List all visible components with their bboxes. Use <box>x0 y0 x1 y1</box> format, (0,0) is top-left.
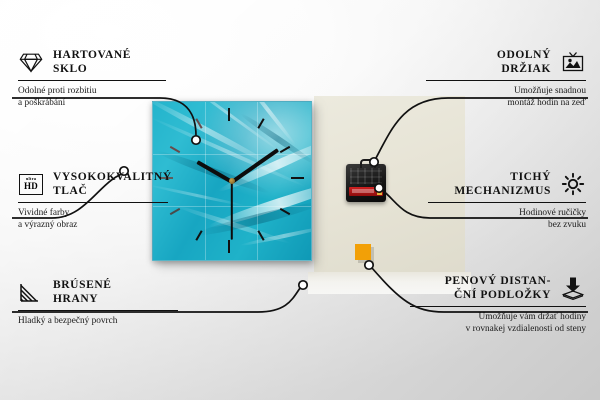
feature-high-quality-print: ultra HD VYSOKOKVALITNÝ TLAČ Vividné far… <box>18 170 168 231</box>
feature-rule <box>410 306 586 307</box>
feature-brushed-edges: BRÚSENÉ HRANY Hladký a bezpečný povrch <box>18 278 178 327</box>
product-photo <box>133 96 465 294</box>
brushed-edges-icon <box>18 280 44 304</box>
foam-spacer-pad <box>355 244 371 260</box>
wall-clock <box>152 101 312 261</box>
feature-desc-line2: montáž hodin na zeď <box>426 97 586 109</box>
feature-desc-line2: v rovnakej vzdialenosti od steny <box>410 323 586 335</box>
feature-desc-line2: a výrazný obraz <box>18 219 168 231</box>
feature-tempered-glass: HARTOVANÉ SKLO Odolné proti rozbitiu a p… <box>18 48 166 109</box>
feature-title-line2: TLAČ <box>53 184 172 198</box>
feature-rule <box>18 310 178 311</box>
ultra-hd-bottom-text: HD <box>24 182 38 191</box>
feature-desc-line1: Odolné proti rozbitiu <box>18 85 166 97</box>
picture-hanger-icon <box>560 50 586 74</box>
feature-silent-mechanism: TICHÝ MECHANIZMUS Hodinové ručičky bez z… <box>428 170 586 231</box>
feature-desc-line1: Umožňuje snadnou <box>426 85 586 97</box>
feature-durable-hanger: ODOLNÝ DRŽIAK Umožňuje snadnou montáž ho… <box>426 48 586 109</box>
feature-desc-line2: a poškrábání <box>18 97 166 109</box>
feature-title-line2: ČNÍ PODLOŽKY <box>445 288 551 302</box>
feature-title-line2: MECHANIZMUS <box>454 184 551 198</box>
feature-desc-line1: Umožňuje vám držať hodiny <box>410 311 586 323</box>
ultra-hd-icon: ultra HD <box>18 172 44 196</box>
mechanism-housing <box>350 168 382 184</box>
clock-center-cap <box>229 178 235 184</box>
feature-rule <box>18 202 168 203</box>
feature-desc-line1: Hladký a bezpečný povrch <box>18 315 178 327</box>
feature-title-line1: BRÚSENÉ <box>53 278 112 292</box>
feature-title-line1: TICHÝ <box>454 170 551 184</box>
battery <box>349 187 383 196</box>
feature-desc-line2: bez zvuku <box>428 219 586 231</box>
feature-desc-line1: Vividné farby <box>18 207 168 219</box>
feature-foam-spacers: PENOVÝ DISTAN- ČNÍ PODLOŽKY Umožňuje vám… <box>410 274 586 335</box>
diamond-icon <box>18 50 44 74</box>
feature-desc-line1: Hodinové ručičky <box>428 207 586 219</box>
mechanism-hook <box>360 159 376 168</box>
clock-mechanism <box>346 164 386 202</box>
feature-title-line1: VYSOKOKVALITNÝ <box>53 170 172 184</box>
feature-title-line1: PENOVÝ DISTAN- <box>445 274 551 288</box>
gear-icon <box>560 172 586 196</box>
feature-rule <box>18 80 166 81</box>
second-hand <box>231 181 233 239</box>
infographic-canvas: HARTOVANÉ SKLO Odolné proti rozbitiu a p… <box>0 0 600 400</box>
feature-rule <box>428 202 586 203</box>
feature-title-line1: ODOLNÝ <box>497 48 551 62</box>
feature-rule <box>426 80 586 81</box>
feature-title-line1: HARTOVANÉ <box>53 48 131 62</box>
feature-title-line2: HRANY <box>53 292 112 306</box>
feature-title-line2: SKLO <box>53 62 131 76</box>
feature-title-line2: DRŽIAK <box>497 62 551 76</box>
foam-pad-icon <box>560 276 586 300</box>
